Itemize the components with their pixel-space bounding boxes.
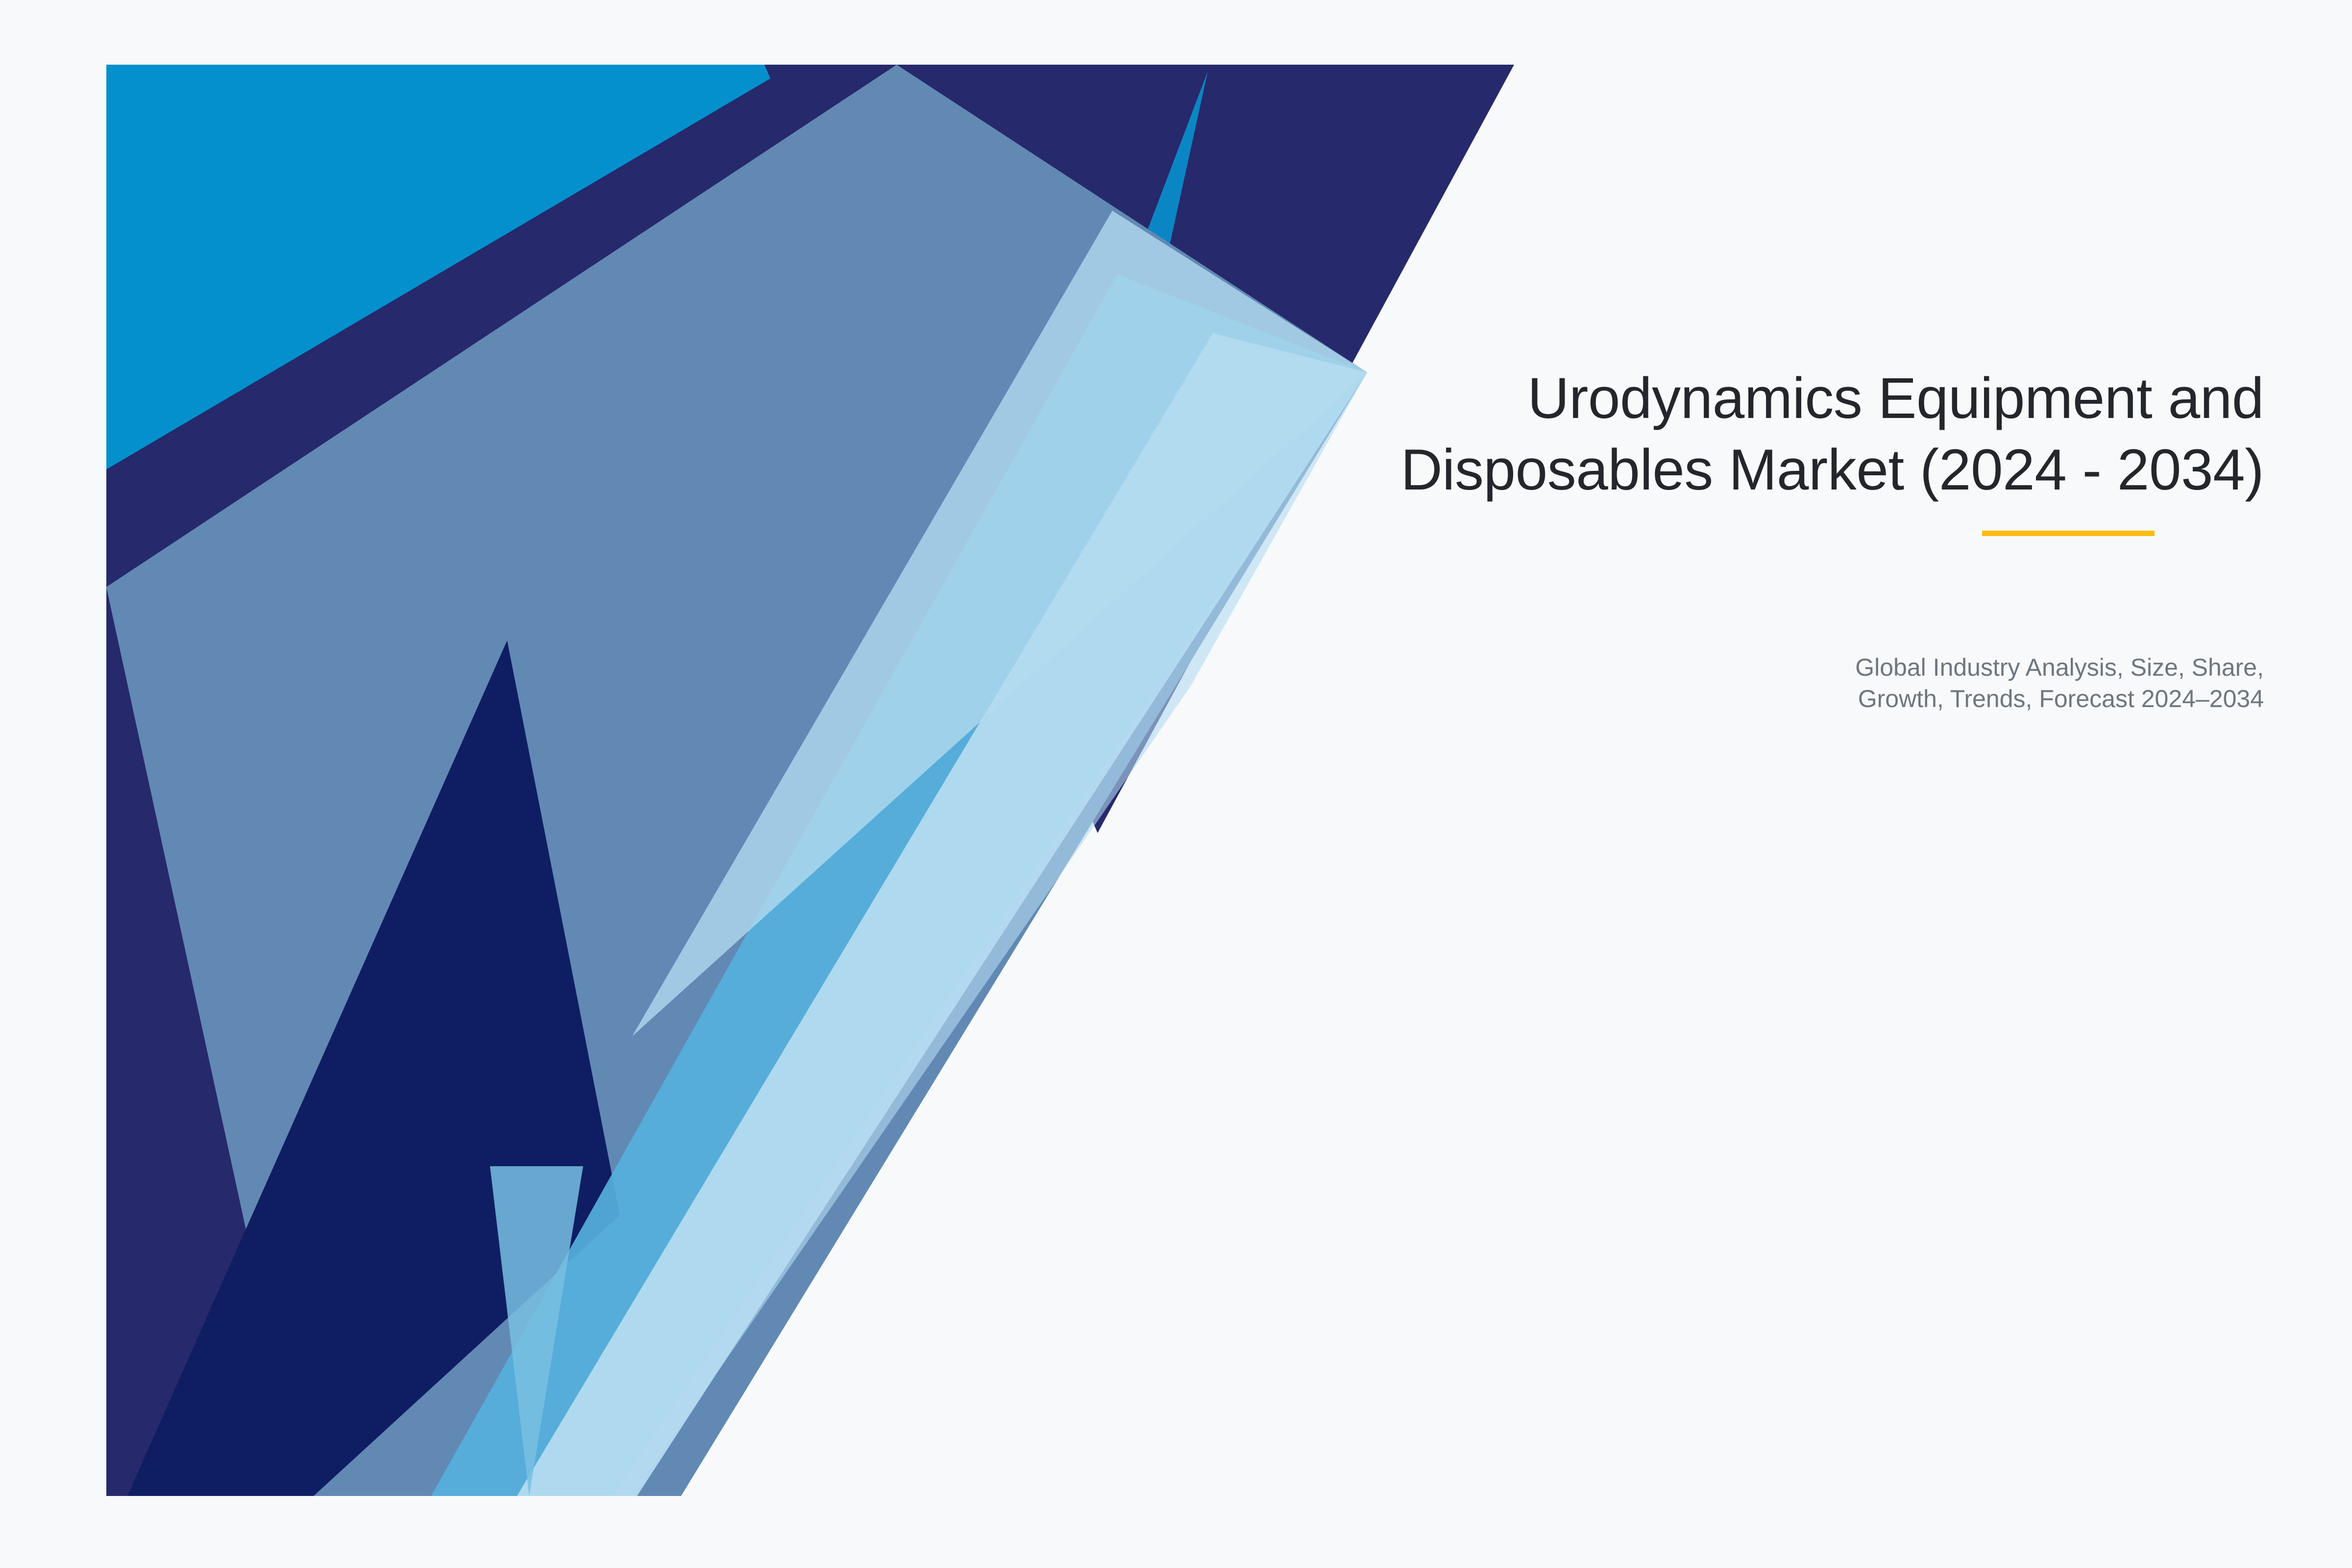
page-title-line-2: Disposables Market (2024 - 2034) <box>1401 438 2264 502</box>
page-subtitle-line-2: Growth, Trends, Forecast 2024–2034 <box>1858 685 2264 712</box>
page-title: Urodynamics Equipment andDisposables Mar… <box>931 363 2264 506</box>
title-block: Urodynamics Equipment andDisposables Mar… <box>931 363 2264 506</box>
title-accent-underline <box>1982 531 2155 536</box>
cover-page: Urodynamics Equipment andDisposables Mar… <box>0 0 2352 1568</box>
page-subtitle-line-1: Global Industry Analysis, Size, Share, <box>1855 654 2264 681</box>
page-title-line-1: Urodynamics Equipment and <box>1527 366 2264 431</box>
page-subtitle: Global Industry Analysis, Size, Share,Gr… <box>1421 652 2264 714</box>
cover-artwork <box>0 0 2352 1568</box>
